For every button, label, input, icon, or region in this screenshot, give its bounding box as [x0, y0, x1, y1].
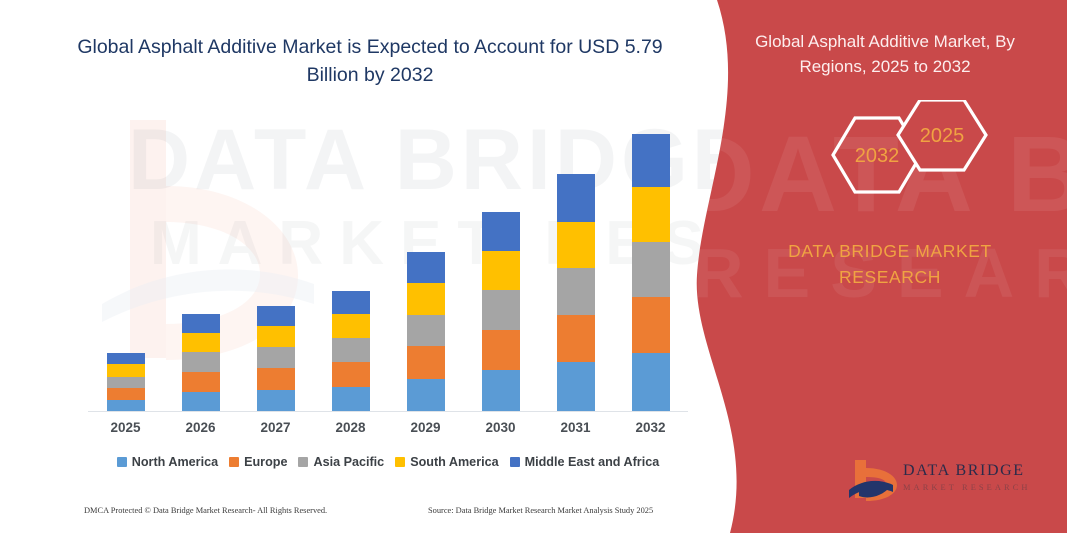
hexagon-2025: 2025 — [898, 100, 986, 170]
bar-segment-2026-asia-pacific[interactable] — [182, 352, 220, 371]
dbmr-logo-tagline: MARKET RESEARCH — [903, 483, 1031, 492]
x-label-2026: 2026 — [185, 420, 215, 435]
panel-title: Global Asphalt Additive Market, By Regio… — [725, 30, 1045, 79]
bar-segment-2025-europe[interactable] — [107, 388, 145, 400]
legend-item-north-america[interactable]: North America — [117, 455, 218, 469]
hexagon-2025-label: 2025 — [920, 125, 965, 147]
bar-column-2030[interactable] — [482, 212, 520, 412]
bar-segment-2027-south-america[interactable] — [257, 326, 295, 347]
legend-item-south-america[interactable]: South America — [395, 455, 498, 469]
bar-segment-2026-north-america[interactable] — [182, 392, 220, 412]
bar-segment-2025-asia-pacific[interactable] — [107, 377, 145, 388]
page-title: Global Asphalt Additive Market is Expect… — [60, 34, 680, 89]
bar-segment-2030-asia-pacific[interactable] — [482, 290, 520, 330]
bar-segment-2028-europe[interactable] — [332, 362, 370, 386]
bar-segment-2025-middle-east-and-africa[interactable] — [107, 353, 145, 364]
bar-segment-2032-north-america[interactable] — [632, 353, 670, 412]
bar-segment-2029-europe[interactable] — [407, 346, 445, 378]
legend-item-middle-east-and-africa[interactable]: Middle East and Africa — [510, 455, 660, 469]
bar-column-2029[interactable] — [407, 252, 445, 412]
bar-segment-2025-south-america[interactable] — [107, 364, 145, 376]
bar-segment-2027-north-america[interactable] — [257, 390, 295, 412]
right-panel: DATA BRI RESEARCH Global Asphalt Additiv… — [687, 0, 1067, 533]
bar-segment-2027-middle-east-and-africa[interactable] — [257, 306, 295, 326]
bar-segment-2028-north-america[interactable] — [332, 387, 370, 412]
bar-segment-2032-europe[interactable] — [632, 297, 670, 354]
panel-brand-line-2: RESEARCH — [745, 264, 1035, 290]
bar-column-2026[interactable] — [182, 314, 220, 412]
bar-segment-2027-asia-pacific[interactable] — [257, 347, 295, 368]
bar-segment-2026-europe[interactable] — [182, 372, 220, 392]
dbmr-b-logo-icon — [847, 458, 899, 508]
x-label-2031: 2031 — [560, 420, 590, 435]
legend-item-asia-pacific[interactable]: Asia Pacific — [298, 455, 384, 469]
x-axis-labels: 20252026202720282029203020312032 — [88, 420, 688, 442]
legend-label: North America — [132, 455, 218, 469]
legend-label: Asia Pacific — [313, 455, 384, 469]
legend-label: Middle East and Africa — [525, 455, 660, 469]
bar-segment-2028-asia-pacific[interactable] — [332, 338, 370, 362]
bar-segment-2031-south-america[interactable] — [557, 222, 595, 269]
x-label-2025: 2025 — [110, 420, 140, 435]
bar-segment-2031-europe[interactable] — [557, 315, 595, 363]
bar-segment-2026-south-america[interactable] — [182, 333, 220, 352]
x-label-2032: 2032 — [635, 420, 665, 435]
footer-source: Source: Data Bridge Market Research Mark… — [428, 506, 653, 515]
footer: DMCA Protected © Data Bridge Market Rese… — [0, 506, 700, 528]
legend-swatch-icon — [117, 457, 127, 467]
legend-item-europe[interactable]: Europe — [229, 455, 287, 469]
x-label-2030: 2030 — [485, 420, 515, 435]
bar-segment-2027-europe[interactable] — [257, 368, 295, 389]
bar-column-2027[interactable] — [257, 306, 295, 412]
x-label-2028: 2028 — [335, 420, 365, 435]
bar-segment-2030-north-america[interactable] — [482, 370, 520, 412]
footer-copyright: DMCA Protected © Data Bridge Market Rese… — [84, 506, 327, 515]
bar-segment-2026-middle-east-and-africa[interactable] — [182, 314, 220, 333]
bar-segment-2029-north-america[interactable] — [407, 379, 445, 412]
bar-segment-2030-middle-east-and-africa[interactable] — [482, 212, 520, 250]
panel-brand: DATA BRIDGE MARKET RESEARCH — [745, 238, 1035, 291]
bar-segment-2030-south-america[interactable] — [482, 251, 520, 291]
infographic-root: DATA BRIDGE MARKET RESEARCH Global Aspha… — [0, 0, 1067, 533]
bar-column-2028[interactable] — [332, 291, 370, 413]
x-label-2029: 2029 — [410, 420, 440, 435]
bar-column-2031[interactable] — [557, 174, 595, 412]
bar-segment-2028-middle-east-and-africa[interactable] — [332, 291, 370, 314]
bar-segment-2029-south-america[interactable] — [407, 283, 445, 314]
legend-swatch-icon — [395, 457, 405, 467]
legend-label: Europe — [244, 455, 287, 469]
legend-swatch-icon — [298, 457, 308, 467]
bar-segment-2032-middle-east-and-africa[interactable] — [632, 134, 670, 187]
legend-swatch-icon — [510, 457, 520, 467]
bar-segment-2030-europe[interactable] — [482, 330, 520, 371]
panel-brand-line-1: DATA BRIDGE MARKET — [745, 238, 1035, 264]
dbmr-logo: DATA BRIDGE MARKET RESEARCH — [847, 458, 1047, 510]
bar-segment-2029-middle-east-and-africa[interactable] — [407, 252, 445, 283]
bar-segment-2031-middle-east-and-africa[interactable] — [557, 174, 595, 222]
bar-column-2032[interactable] — [632, 134, 670, 412]
legend-swatch-icon — [229, 457, 239, 467]
bar-segment-2031-asia-pacific[interactable] — [557, 268, 595, 315]
hexagon-2032-label: 2032 — [855, 145, 900, 167]
x-axis-line — [88, 411, 688, 412]
dbmr-logo-name: DATA BRIDGE — [903, 462, 1025, 480]
legend-label: South America — [410, 455, 498, 469]
x-label-2027: 2027 — [260, 420, 290, 435]
hexagon-badges: 2032 2025 — [797, 100, 1067, 210]
stacked-bar-chart — [88, 120, 688, 412]
bar-segment-2031-north-america[interactable] — [557, 362, 595, 412]
bar-segment-2028-south-america[interactable] — [332, 314, 370, 338]
bar-segment-2032-south-america[interactable] — [632, 187, 670, 242]
bar-column-2025[interactable] — [107, 353, 145, 412]
bar-segment-2029-asia-pacific[interactable] — [407, 315, 445, 346]
bar-segment-2032-asia-pacific[interactable] — [632, 242, 670, 297]
chart-plot-area — [88, 120, 688, 412]
chart-legend: North AmericaEuropeAsia PacificSouth Ame… — [88, 455, 688, 469]
